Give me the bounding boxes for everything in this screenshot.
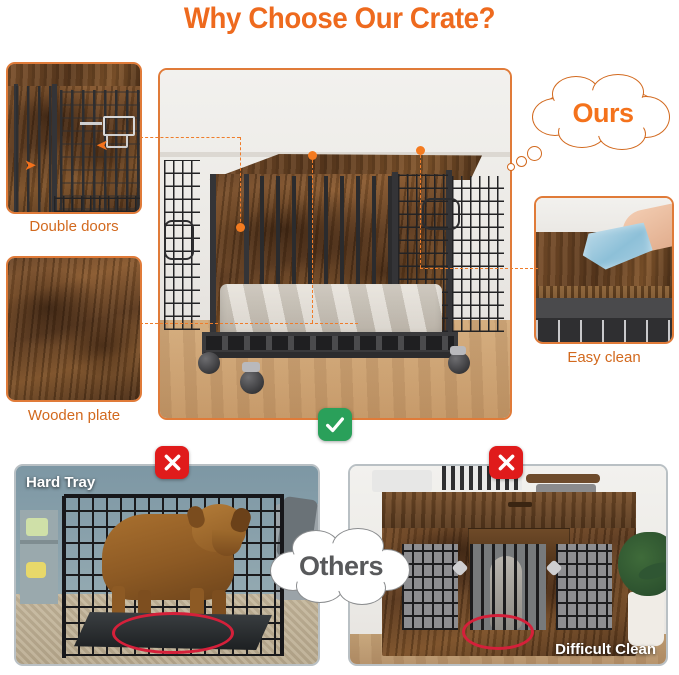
bubble-tail-dot (507, 163, 515, 171)
caster-wheel (198, 352, 220, 374)
problem-highlight-ellipse (112, 612, 234, 654)
cross-icon (496, 452, 517, 473)
problem-highlight-ellipse (462, 614, 534, 650)
bubble-tail-dot (516, 156, 527, 167)
infographic-root: Why Choose Our Crate? ➤ ➤ Double doors (0, 0, 679, 675)
connector-wooden-plate-rise (312, 155, 313, 323)
feature-panel-wooden-plate (6, 256, 142, 402)
page-title: Why Choose Our Crate? (27, 2, 652, 36)
others-cross-badge-right (489, 446, 523, 479)
caption-wooden-plate: Wooden plate (0, 407, 148, 424)
caster-wheel (240, 370, 264, 394)
others-bubble-label: Others (272, 525, 410, 607)
wooden-plate-photo (8, 258, 140, 400)
caption-double-doors: Double doors (0, 218, 148, 235)
connector-dot (236, 223, 245, 232)
check-icon (324, 414, 346, 436)
ours-speech-bubble: Ours (526, 72, 672, 154)
ours-check-badge (318, 408, 352, 441)
double-doors-photo: ➤ ➤ (8, 64, 140, 212)
connector-double-doors-drop (240, 137, 241, 227)
feature-panel-easy-clean (534, 196, 674, 344)
hard-tray-label: Hard Tray (26, 474, 95, 491)
feature-panel-double-doors: ➤ ➤ (6, 62, 142, 214)
caster-wheel (448, 352, 470, 374)
others-cross-badge-left (155, 446, 189, 479)
easy-clean-photo (536, 198, 672, 342)
ours-bubble-label: Ours (534, 72, 672, 154)
cross-icon (162, 452, 183, 473)
connector-dot (416, 146, 425, 155)
connector-dot (308, 151, 317, 160)
difficult-clean-label: Difficult Clean (555, 641, 656, 658)
connector-easy-clean-rise (420, 150, 421, 268)
main-crate-photo-panel (158, 68, 512, 420)
connector-wooden-plate (140, 323, 358, 324)
caption-easy-clean: Easy clean (530, 349, 678, 366)
others-speech-bubble: Others (268, 527, 410, 607)
main-crate-photo (160, 70, 510, 418)
connector-double-doors (140, 137, 240, 138)
connector-easy-clean (420, 268, 538, 269)
